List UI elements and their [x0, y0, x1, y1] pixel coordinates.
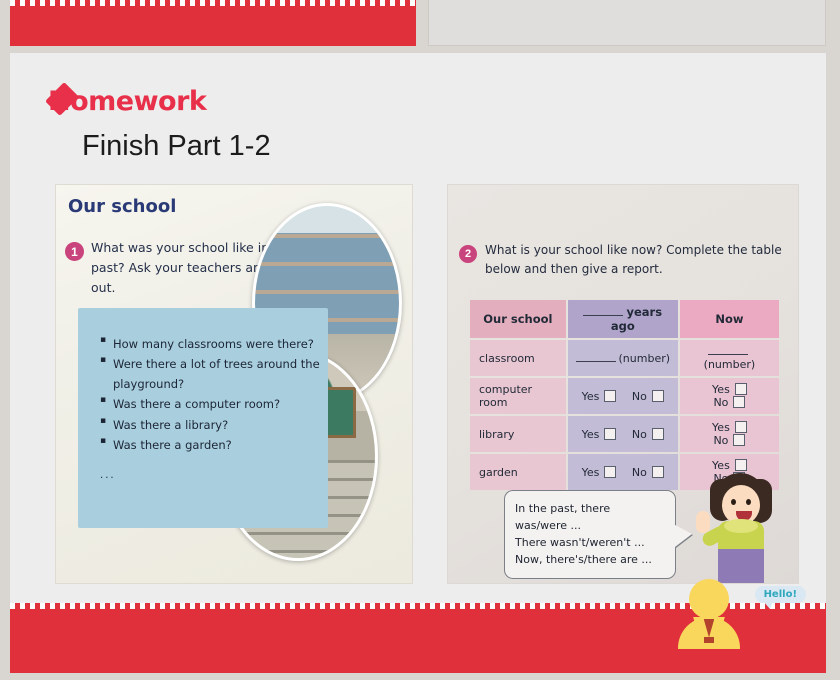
speech-bubble: In the past, there was/were ... There wa… [504, 490, 676, 579]
yes-option[interactable]: Yes [712, 459, 747, 472]
no-option[interactable]: No [713, 396, 745, 409]
yes-option[interactable]: Yes [582, 466, 617, 479]
no-label: No [632, 466, 647, 479]
pointing-hand-icon [696, 511, 710, 533]
list-item: Was there a garden? [100, 435, 328, 455]
part2-question: What is your school like now? Complete t… [485, 241, 785, 278]
school-comparison-table: Our school years ago Now classroom (numb… [468, 298, 781, 492]
list-item: Was there a library? [100, 415, 328, 435]
row-label-classroom: classroom [470, 340, 566, 376]
checkbox[interactable] [652, 428, 664, 440]
blank-line [576, 353, 616, 362]
no-option[interactable]: No [632, 428, 664, 441]
blank-line [708, 346, 748, 355]
table-header-years-ago: years ago [568, 300, 678, 338]
yes-label: Yes [582, 390, 600, 403]
no-label: No [713, 396, 728, 409]
no-option[interactable]: No [632, 390, 664, 403]
checkbox[interactable] [735, 459, 747, 471]
computer-room-now[interactable]: Yes No [680, 378, 779, 414]
library-past[interactable]: Yes No [568, 416, 678, 452]
checkbox[interactable] [733, 396, 745, 408]
bubble-line: There wasn't/weren't ... [515, 534, 665, 551]
part1-bullet-list: How many classrooms were there? Were the… [100, 334, 328, 455]
table-header-row: Our school years ago Now [470, 300, 779, 338]
table-row: library Yes No Yes No [470, 416, 779, 452]
classroom-now-number[interactable]: (number) [680, 340, 779, 376]
avatar-head [689, 579, 729, 619]
no-label: No [632, 390, 647, 403]
yes-label: Yes [712, 421, 730, 434]
eye-right-icon [746, 499, 751, 505]
right-empty-panel [428, 0, 826, 46]
yes-option[interactable]: Yes [712, 421, 747, 434]
no-option[interactable]: No [632, 466, 664, 479]
bubble-line: In the past, there was/were ... [515, 500, 665, 534]
part1-question-box: How many classrooms were there? Were the… [78, 308, 328, 528]
classroom-past-number[interactable]: (number) [568, 340, 678, 376]
eye-left-icon [731, 499, 736, 505]
row-label-computer-room: computer room [470, 378, 566, 414]
yes-option[interactable]: Yes [582, 428, 617, 441]
footer-red-band: Hello! [10, 603, 826, 673]
previous-slide-thumbnail[interactable] [10, 0, 416, 46]
teacher-avatar-icon [678, 579, 740, 653]
row-label-library: library [470, 416, 566, 452]
hello-bubble: Hello! [755, 586, 806, 603]
checkbox[interactable] [652, 466, 664, 478]
presentation-canvas: Homework Finish Part 1-2 Our school 1 Wh… [0, 0, 840, 680]
girl-illustration [698, 473, 786, 584]
current-slide[interactable]: Homework Finish Part 1-2 Our school 1 Wh… [10, 53, 826, 673]
row-label-garden: garden [470, 454, 566, 490]
table-row: classroom (number) (number) [470, 340, 779, 376]
table-row: computer room Yes No Yes No [470, 378, 779, 414]
checkbox[interactable] [604, 466, 616, 478]
blank-line [583, 307, 623, 316]
part1-number-badge: 1 [65, 242, 84, 261]
previous-slide-red-band [10, 0, 416, 46]
list-item: Was there a computer room? [100, 394, 328, 414]
scallop-edge-decoration [10, 0, 416, 6]
no-label: No [713, 434, 728, 447]
yes-label: Yes [712, 383, 730, 396]
checkbox[interactable] [735, 383, 747, 395]
no-label: No [632, 428, 647, 441]
part1-title: Our school [68, 196, 176, 217]
homework-heading: Homework [48, 86, 206, 117]
table-header-now: Now [680, 300, 779, 338]
checkbox[interactable] [733, 434, 745, 446]
library-now[interactable]: Yes No [680, 416, 779, 452]
no-option[interactable]: No [713, 434, 745, 447]
slide-subtitle: Finish Part 1-2 [82, 130, 271, 163]
checkbox[interactable] [604, 390, 616, 402]
part1-textbook-image[interactable]: Our school 1 What was your school like i… [55, 184, 413, 584]
checkbox[interactable] [735, 421, 747, 433]
part2-number-badge: 2 [459, 245, 477, 263]
list-item: Were there a lot of trees around the pla… [100, 354, 328, 394]
part1-ellipsis: ... [100, 469, 328, 481]
collar-icon [724, 519, 758, 533]
table-header-our-school: Our school [470, 300, 566, 338]
yes-label: Yes [582, 428, 600, 441]
list-item: How many classrooms were there? [100, 334, 328, 354]
yes-option[interactable]: Yes [712, 383, 747, 396]
yes-label: Yes [712, 459, 730, 472]
yes-label: Yes [582, 466, 600, 479]
yes-option[interactable]: Yes [582, 390, 617, 403]
checkbox[interactable] [652, 390, 664, 402]
bubble-line: Now, there's/there are ... [515, 551, 665, 568]
checkbox[interactable] [604, 428, 616, 440]
garden-past[interactable]: Yes No [568, 454, 678, 490]
computer-room-past[interactable]: Yes No [568, 378, 678, 414]
part2-textbook-image[interactable]: 2 What is your school like now? Complete… [447, 184, 799, 584]
